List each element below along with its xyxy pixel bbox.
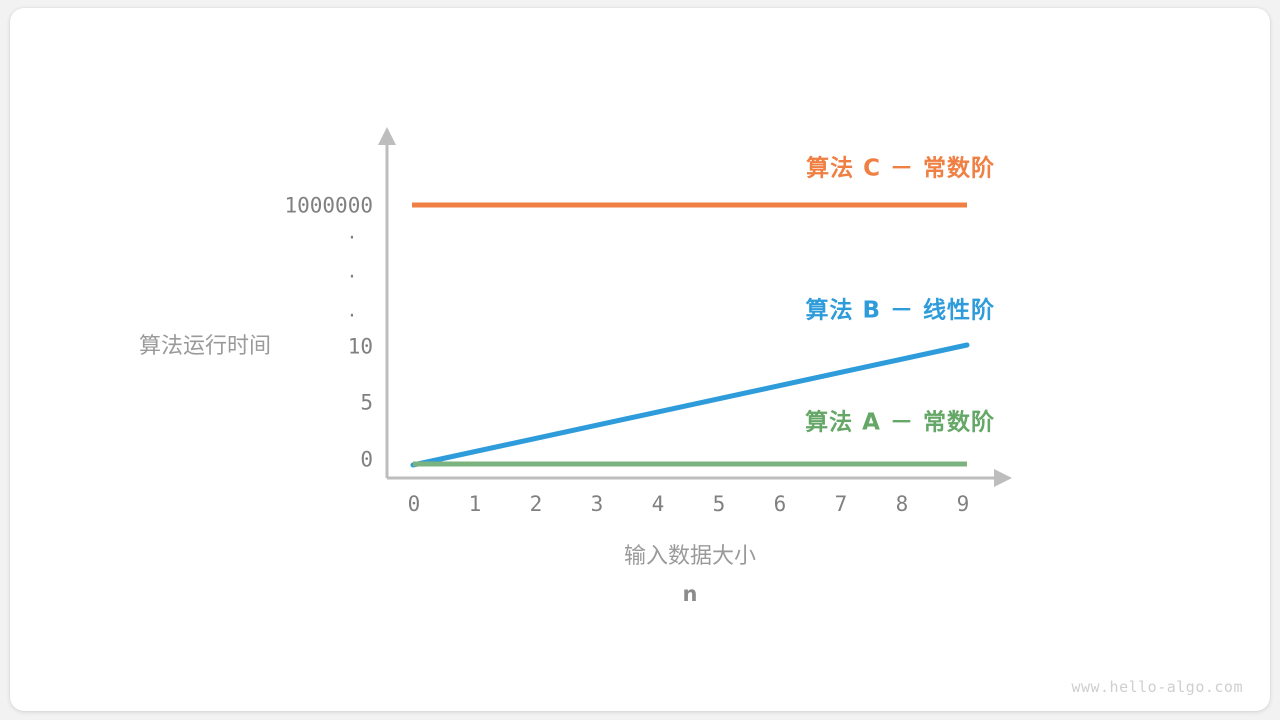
- figure-canvas: 1000000 · · · 10 5 0 0 1 2 3 4 5 6 7 8 9…: [0, 0, 1280, 720]
- x-tick-label-3: 3: [591, 494, 604, 515]
- watermark-url: www.hello-algo.com: [1071, 680, 1243, 695]
- legend-label-algorithm-c: 算法 C － 常数阶: [806, 158, 995, 181]
- legend-label-algorithm-b: 算法 B － 线性阶: [805, 300, 995, 323]
- y-tick-label-0: 0: [170, 450, 373, 471]
- x-tick-label-8: 8: [896, 494, 909, 515]
- legend-label-algorithm-a: 算法 A － 常数阶: [805, 412, 995, 435]
- x-tick-label-4: 4: [652, 494, 665, 515]
- x-tick-label-2: 2: [530, 494, 543, 515]
- y-tick-label-5: 5: [170, 393, 373, 414]
- y-axis-ellipsis-dot: ·: [339, 310, 366, 323]
- y-axis-ellipsis-dot: ·: [339, 270, 366, 283]
- x-axis-variable-label: n: [683, 584, 698, 605]
- x-tick-label-7: 7: [835, 494, 848, 515]
- x-tick-label-9: 9: [957, 494, 970, 515]
- x-axis-title: 输入数据大小: [624, 546, 756, 568]
- y-axis-ellipsis: · · ·: [339, 205, 366, 348]
- x-tick-label-6: 6: [774, 494, 787, 515]
- chart-plot-area: [0, 0, 1280, 720]
- x-tick-label-0: 0: [408, 494, 421, 515]
- series-line-algorithm-b: [413, 345, 967, 465]
- y-axis-title: 算法运行时间: [139, 336, 271, 358]
- x-tick-label-1: 1: [469, 494, 482, 515]
- x-tick-label-5: 5: [713, 494, 726, 515]
- y-axis-ellipsis-dot: ·: [339, 231, 366, 244]
